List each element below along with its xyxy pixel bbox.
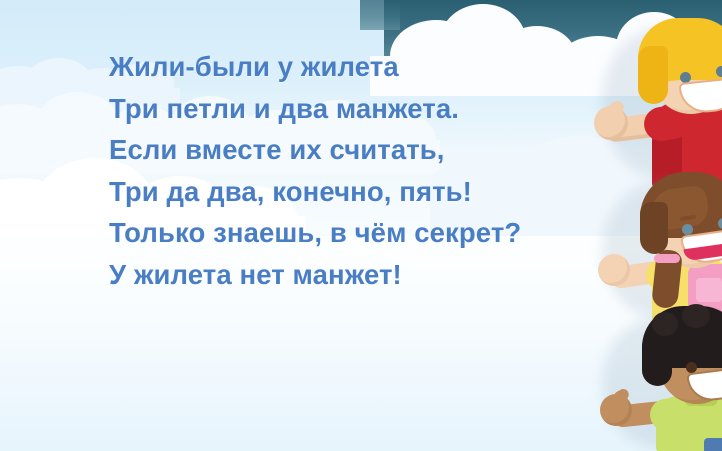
hair-side — [638, 46, 668, 104]
jeans — [704, 438, 722, 451]
hair-tie — [654, 254, 680, 263]
poem-text: Жили-были у жилета Три петли и два манже… — [109, 46, 629, 295]
hair-curl — [652, 312, 678, 336]
teal-sky-patch-left — [360, 0, 400, 30]
poem-line-5: Только знаешь, в чём секрет? — [109, 212, 629, 254]
hair-curl — [682, 304, 710, 328]
eye-left — [682, 224, 693, 235]
poem-line-2: Три петли и два манжета. — [109, 88, 629, 130]
illustration-scene: Жили-были у жилета Три петли и два манже… — [0, 0, 722, 451]
eye-right — [716, 66, 722, 77]
overall-pocket — [696, 278, 722, 302]
hair-side — [640, 202, 668, 254]
hair-side — [642, 334, 672, 386]
poem-line-1: Жили-были у жилета — [109, 46, 629, 88]
eye-right — [718, 218, 722, 229]
poem-line-6: У жилета нет манжет! — [109, 254, 629, 296]
child-dark-haired-boy — [596, 300, 722, 451]
poem-line-4: Три да два, конечно, пять! — [109, 171, 629, 213]
poem-line-3: Если вместе их считать, — [109, 129, 629, 171]
